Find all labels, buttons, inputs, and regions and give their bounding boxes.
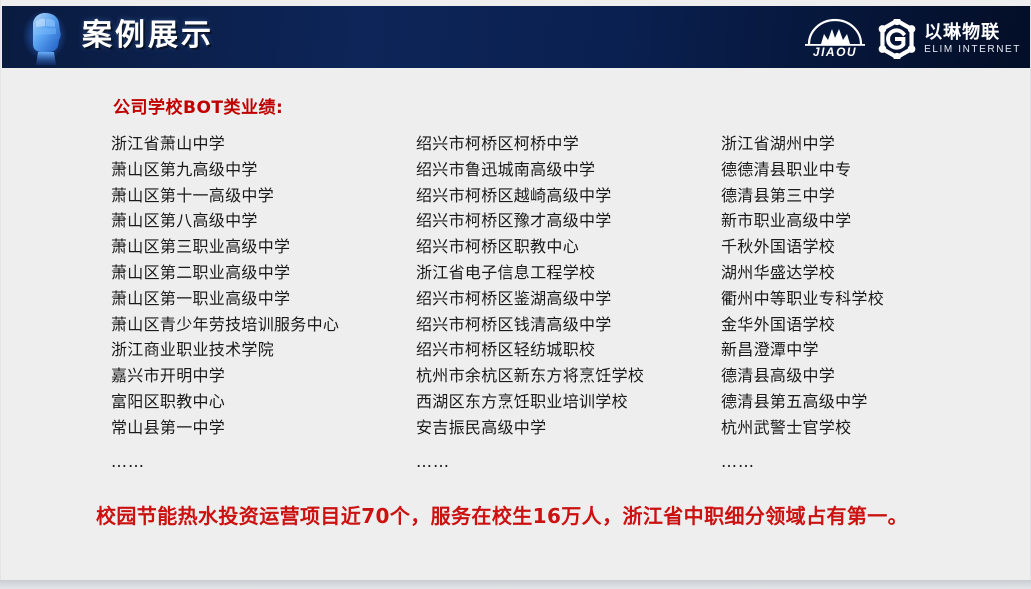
page-title: 案例展示 bbox=[82, 13, 214, 59]
list-item: 绍兴市鲁迅城南高级中学 bbox=[416, 157, 721, 183]
list-item: 德清县第五高级中学 bbox=[721, 389, 1011, 415]
jiaou-logo: JIAOU bbox=[791, 17, 879, 61]
elim-wordmark: 以琳物联 ELIM INTERNET bbox=[924, 23, 1021, 56]
list-item: 千秋外国语学校 bbox=[721, 234, 1011, 260]
list-item: 萧山区第三职业高级中学 bbox=[111, 234, 416, 260]
list-item: 西湖区东方烹饪职业培训学校 bbox=[416, 389, 721, 415]
list-item: 嘉兴市开明中学 bbox=[111, 363, 416, 389]
list-item: 萧山区第十一高级中学 bbox=[111, 183, 416, 209]
list-item: 绍兴市柯桥区钱清高级中学 bbox=[416, 312, 721, 338]
list-item: 萧山区第九高级中学 bbox=[111, 157, 416, 183]
list-item: 绍兴市柯桥区越崎高级中学 bbox=[416, 183, 721, 209]
summary-statement: 校园节能热水投资运营项目近70个，服务在校生16万人，浙江省中职细分领域占有第一… bbox=[96, 500, 908, 529]
jiaou-wordmark: JIAOU bbox=[791, 45, 879, 59]
list-item: 绍兴市柯桥区鉴湖高级中学 bbox=[416, 286, 721, 312]
list-item: 杭州武警士官学校 bbox=[721, 415, 1011, 441]
list-item: 萧山区第八高级中学 bbox=[111, 208, 416, 234]
list-item: 新昌澄潭中学 bbox=[721, 337, 1011, 363]
list-item: 杭州市余杭区新东方将烹饪学校 bbox=[416, 363, 721, 389]
slide-header: 案例展示 JIAOU 以琳物联 ELIM INTERN bbox=[2, 6, 1031, 68]
section-subtitle: 公司学校BOT类业绩: bbox=[113, 93, 283, 118]
elim-name-en: ELIM INTERNET bbox=[924, 43, 1021, 56]
list-item: 安吉振民高级中学 bbox=[416, 415, 721, 441]
slide-bottom-shadow bbox=[0, 580, 1031, 589]
elim-logo: 以琳物联 ELIM INTERNET bbox=[877, 18, 1021, 60]
list-ellipsis: …… bbox=[721, 441, 1011, 475]
list-item: 浙江商业职业技术学院 bbox=[111, 337, 416, 363]
crown-sun-arc-icon bbox=[791, 17, 879, 47]
list-item: 绍兴市柯桥区柯桥中学 bbox=[416, 131, 721, 157]
hexagon-g-icon bbox=[877, 19, 917, 59]
slide-canvas: 案例展示 JIAOU 以琳物联 ELIM INTERN bbox=[0, 0, 1031, 580]
school-list-column-2: 绍兴市柯桥区柯桥中学 绍兴市鲁迅城南高级中学 绍兴市柯桥区越崎高级中学 绍兴市柯… bbox=[416, 131, 721, 474]
elim-name-cn: 以琳物联 bbox=[924, 23, 1021, 43]
raised-fist-icon bbox=[15, 6, 77, 68]
school-list-columns: 浙江省萧山中学 萧山区第九高级中学 萧山区第十一高级中学 萧山区第八高级中学 萧… bbox=[111, 131, 1011, 474]
list-item: 德清县第三中学 bbox=[721, 183, 1011, 209]
list-item: 富阳区职教中心 bbox=[111, 389, 416, 415]
list-ellipsis: …… bbox=[416, 441, 721, 475]
list-item: 常山县第一中学 bbox=[111, 415, 416, 441]
list-item: 浙江省萧山中学 bbox=[111, 131, 416, 157]
list-ellipsis: …… bbox=[111, 441, 416, 475]
school-list-column-3: 浙江省湖州中学 德德清县职业中专 德清县第三中学 新市职业高级中学 千秋外国语学… bbox=[721, 131, 1011, 474]
list-item: 金华外国语学校 bbox=[721, 312, 1011, 338]
list-item: 德清县高级中学 bbox=[721, 363, 1011, 389]
list-item: 萧山区第二职业高级中学 bbox=[111, 260, 416, 286]
list-item: 绍兴市柯桥区轻纺城职校 bbox=[416, 337, 721, 363]
list-item: 新市职业高级中学 bbox=[721, 208, 1011, 234]
list-item: 萧山区第一职业高级中学 bbox=[111, 286, 416, 312]
list-item: 浙江省湖州中学 bbox=[721, 131, 1011, 157]
list-item: 绍兴市柯桥区职教中心 bbox=[416, 234, 721, 260]
list-item: 德德清县职业中专 bbox=[721, 157, 1011, 183]
school-list-column-1: 浙江省萧山中学 萧山区第九高级中学 萧山区第十一高级中学 萧山区第八高级中学 萧… bbox=[111, 131, 416, 474]
list-item: 衢州中等职业专科学校 bbox=[721, 286, 1011, 312]
fist-shape bbox=[25, 9, 69, 65]
list-item: 萧山区青少年劳技培训服务中心 bbox=[111, 312, 416, 338]
list-item: 绍兴市柯桥区豫才高级中学 bbox=[416, 208, 721, 234]
list-item: 湖州华盛达学校 bbox=[721, 260, 1011, 286]
list-item: 浙江省电子信息工程学校 bbox=[416, 260, 721, 286]
